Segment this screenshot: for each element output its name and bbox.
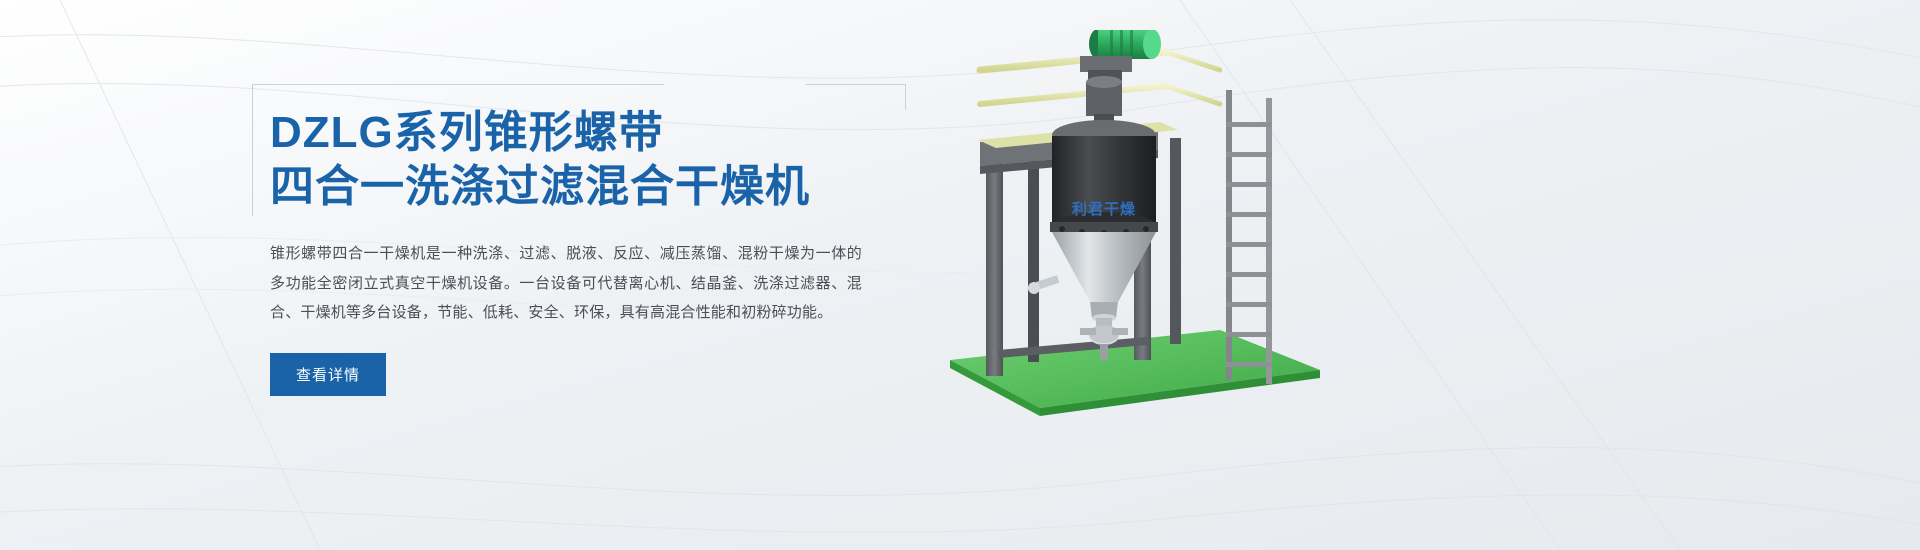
banner-description: 锥形螺带四合一干燥机是一种洗涤、过滤、脱液、反应、减压蒸馏、混粉干燥为一体的多功… bbox=[252, 239, 862, 327]
banner-text-block: DZLG系列锥形螺带 四合一洗涤过滤混合干燥机 锥形螺带四合一干燥机是一种洗涤、… bbox=[252, 84, 912, 396]
frame-right-line bbox=[905, 84, 906, 110]
hero-banner: DZLG系列锥形螺带 四合一洗涤过滤混合干燥机 锥形螺带四合一干燥机是一种洗涤、… bbox=[0, 0, 1920, 550]
banner-title-line-2: 四合一洗涤过滤混合干燥机 bbox=[268, 160, 912, 214]
motor-unit bbox=[1080, 30, 1161, 84]
frame-top-right-line bbox=[806, 84, 906, 85]
banner-title-line-1: DZLG系列锥形螺带 bbox=[268, 106, 912, 160]
machine-illustration: 利君干燥 bbox=[920, 30, 1340, 420]
title-decorative-frame: DZLG系列锥形螺带 四合一洗涤过滤混合干燥机 bbox=[252, 84, 912, 217]
vessel-body bbox=[1050, 136, 1158, 240]
view-details-button[interactable]: 查看详情 bbox=[270, 353, 386, 396]
